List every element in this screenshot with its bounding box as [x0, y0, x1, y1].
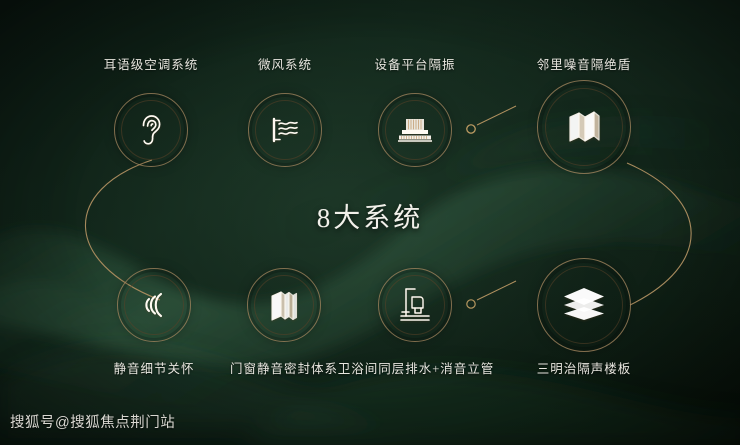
node-window[interactable] — [251, 272, 317, 338]
bathroom-drain-icon — [382, 272, 448, 338]
kink-bottom — [477, 281, 516, 300]
breeze-waves-icon — [252, 97, 318, 163]
node-slab[interactable] — [542, 263, 626, 347]
node-ear[interactable] — [118, 97, 184, 163]
node-detail[interactable] — [121, 272, 187, 338]
layered-window-icon — [251, 272, 317, 338]
kink-top — [477, 106, 516, 125]
center-title: 8大系统 — [0, 196, 740, 235]
node-label-neighbor: 邻里噪音隔绝盾 — [521, 54, 647, 73]
node-breeze[interactable] — [252, 97, 318, 163]
shield-panels-icon — [542, 85, 626, 169]
node-label-detail: 静音细节关怀 — [91, 358, 217, 377]
node-neighbor[interactable] — [542, 85, 626, 169]
kink-node-top — [467, 125, 475, 133]
ear-icon — [118, 97, 184, 163]
node-label-slab: 三明治隔声楼板 — [521, 358, 647, 377]
infographic-canvas: 耳语级空调系统 微风系统 — [0, 0, 740, 445]
node-platform[interactable] — [382, 97, 448, 163]
watermark: 搜狐号@搜狐焦点荆门站 — [10, 411, 175, 432]
node-label-platform: 设备平台隔振 — [352, 54, 478, 73]
node-bath[interactable] — [382, 272, 448, 338]
kink-node-bottom — [467, 300, 475, 308]
node-label-breeze: 微风系统 — [222, 54, 348, 73]
node-label-window: 门窗静音密封体系 — [221, 358, 347, 377]
equipment-platform-icon — [382, 97, 448, 163]
sandwich-slab-icon — [542, 263, 626, 347]
node-label-bath: 卫浴间同层排水+消音立管 — [332, 358, 500, 377]
sound-wave-icon — [121, 272, 187, 338]
node-label-ear: 耳语级空调系统 — [88, 54, 214, 73]
